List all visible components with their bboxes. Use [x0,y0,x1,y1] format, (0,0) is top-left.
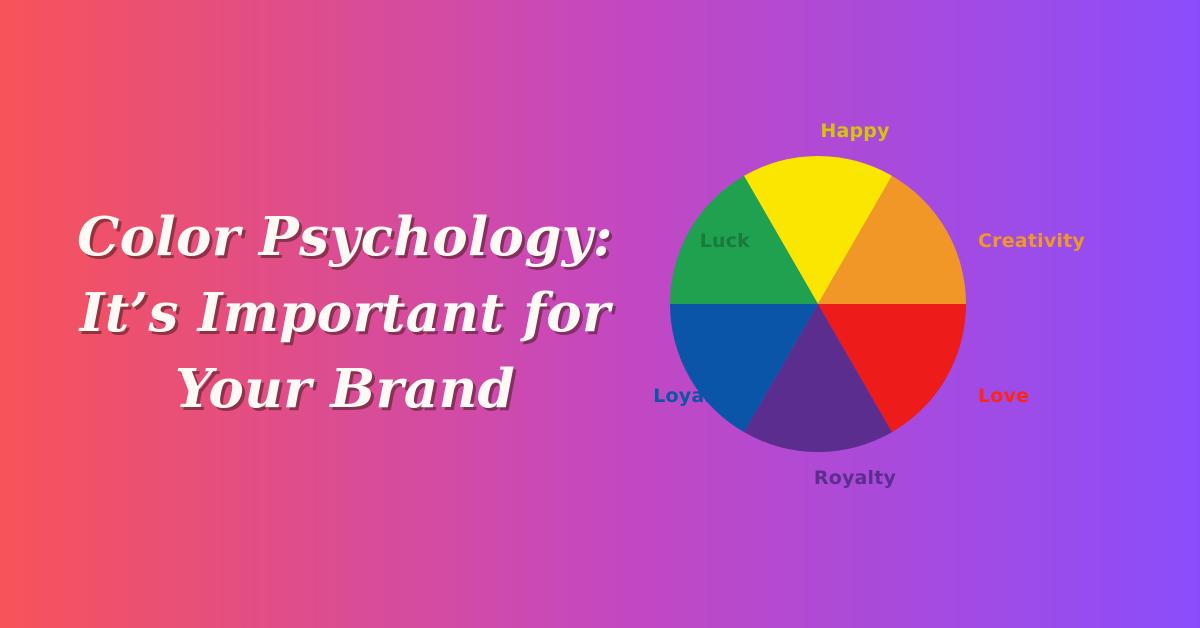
headline-block: Color Psychology: It’s Important for You… [0,0,660,628]
pie-label-love: Love [978,385,1029,407]
color-wheel-stage: Happy Creativity Love Royalty Loyalty Lu… [660,0,1200,628]
page-title: Color Psychology: It’s Important for You… [77,200,613,427]
color-wheel-block: Happy Creativity Love Royalty Loyalty Lu… [660,0,1200,628]
pie-label-luck: Luck [700,230,750,252]
pie-label-creativity: Creativity [978,230,1085,252]
pie-label-loyalty: Loyalty [653,385,733,407]
color-psychology-banner: Color Psychology: It’s Important for You… [0,0,1200,628]
color-wheel-pie-chart [660,0,1200,628]
pie-label-royalty: Royalty [814,467,896,489]
pie-label-happy: Happy [820,120,889,142]
